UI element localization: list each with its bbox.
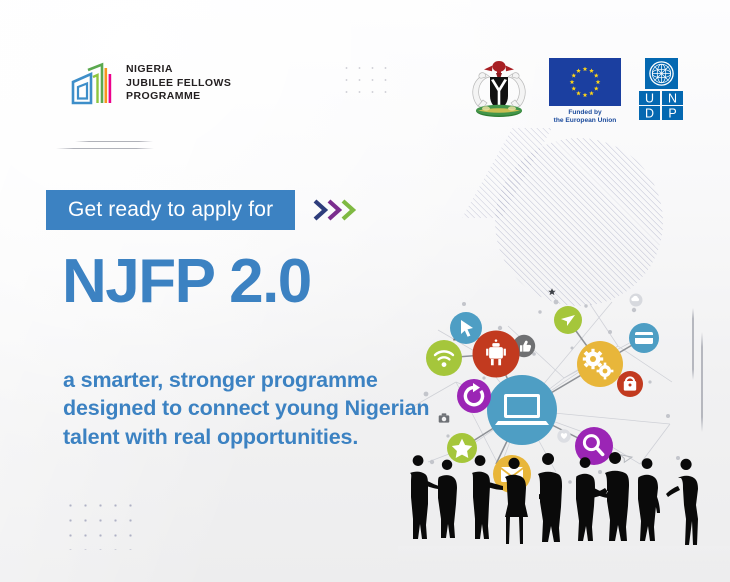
chevron-1-icon: [315, 201, 325, 219]
chevron-2-icon: [329, 201, 339, 219]
eu-funding-logo: Funded by the European Union: [549, 58, 621, 125]
cloud-icon: [630, 294, 643, 307]
send-node-icon: [554, 306, 582, 334]
cursor-node-icon: [450, 312, 482, 344]
page-title: NJFP 2.0: [62, 251, 311, 313]
hero-subcopy: a smarter, stronger programme designed t…: [63, 366, 435, 451]
poster-canvas: NIGERIA JUBILEE FELLOWS PROGRAMME: [0, 0, 730, 582]
dotted-grid: [63, 498, 143, 550]
nigeria-coat-of-arms-icon: [466, 58, 532, 120]
partner-logos: Funded by the European Union U N: [466, 58, 685, 125]
chevron-3-icon: [343, 201, 353, 219]
star-small-icon: [548, 288, 556, 295]
lock-node-icon: [617, 371, 643, 397]
eu-funding-caption: Funded by the European Union: [554, 109, 617, 125]
crowd-figures: [410, 452, 698, 545]
horizontal-rule-2: [56, 148, 154, 149]
njfp-brand-name: NIGERIA JUBILEE FELLOWS PROGRAMME: [126, 63, 231, 104]
hero-eyebrow-row: Get ready to apply for: [46, 190, 359, 230]
wifi-node-icon: [426, 340, 462, 376]
gears-node-icon: [577, 341, 623, 387]
laptop-node-icon: [487, 375, 557, 445]
svg-text:U: U: [645, 92, 654, 106]
european-union-flag-icon: [549, 58, 621, 106]
njfp-brand-logo: NIGERIA JUBILEE FELLOWS PROGRAMME: [70, 61, 231, 106]
robot-node-icon: [473, 331, 520, 378]
chevrons-group-icon: [311, 197, 359, 223]
business-people-silhouettes: [398, 452, 730, 564]
refresh-node-icon: [457, 379, 491, 413]
hero-eyebrow-banner: Get ready to apply for: [46, 190, 295, 230]
camera-icon: [439, 413, 450, 422]
svg-text:D: D: [645, 107, 654, 120]
heart-icon: [557, 429, 570, 442]
njfp-building-logo-icon: [70, 61, 117, 106]
diagonal-hatch-circle: [495, 138, 663, 306]
horizontal-rule-1: [75, 141, 153, 142]
undp-logo-icon: U N D P: [638, 58, 685, 120]
card-node-icon: [629, 323, 659, 353]
svg-text:P: P: [668, 107, 676, 120]
svg-text:N: N: [668, 92, 677, 106]
dotted-square-grid: [340, 62, 390, 100]
